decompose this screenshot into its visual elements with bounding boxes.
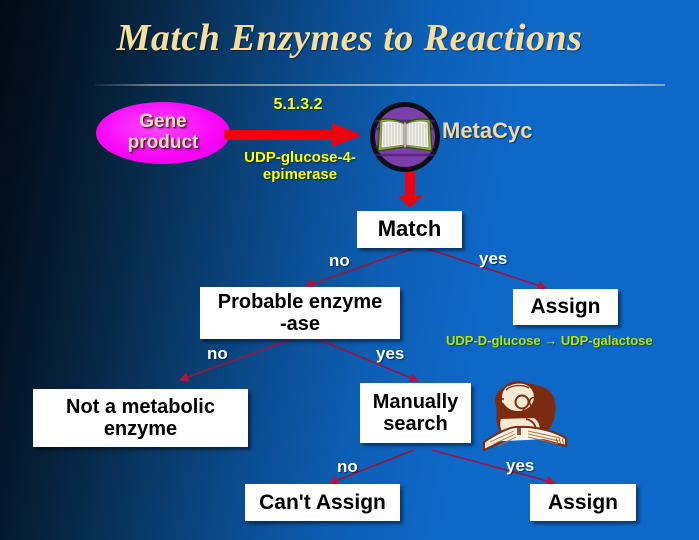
node-cant-assign[interactable]: Can't Assign	[245, 484, 400, 521]
edge-label-probable-yes: yes	[376, 344, 404, 364]
scholar-reading-book-icon	[466, 372, 576, 454]
node-probable-enzyme[interactable]: Probable enzyme -ase	[200, 287, 400, 339]
node-manually-search[interactable]: Manually search	[360, 383, 471, 443]
enzyme-name-label: UDP-glucose-4- epimerase	[205, 150, 395, 184]
node-probable-enzyme-line1: Probable enzyme	[218, 291, 383, 313]
gene-to-database-arrow-icon	[224, 122, 362, 148]
ec-number-label: 5.1.3.2	[238, 96, 358, 114]
metacyc-book-badge-icon	[369, 101, 441, 173]
node-probable-enzyme-line2: -ase	[280, 313, 320, 335]
edge-label-probable-no: no	[207, 344, 228, 364]
node-not-metabolic-line2: enzyme	[104, 418, 177, 440]
reaction-result-label: UDP-D-glucose → UDP-galactose	[446, 333, 653, 348]
database-to-match-arrow-icon	[396, 172, 424, 208]
edge-label-match-yes: yes	[479, 249, 507, 269]
node-match[interactable]: Match	[357, 211, 462, 248]
page-title: Match Enzymes to Reactions	[0, 16, 699, 60]
edge-label-search-no: no	[337, 457, 358, 477]
node-manually-search-line1: Manually	[373, 391, 459, 413]
title-divider	[95, 84, 665, 86]
edge-label-search-yes: yes	[506, 456, 534, 476]
node-assign-bottom[interactable]: Assign	[530, 484, 636, 521]
node-manually-search-line2: search	[383, 413, 448, 435]
node-not-metabolic-line1: Not a metabolic	[66, 396, 215, 418]
edge-label-match-no: no	[329, 251, 350, 271]
node-assign-top[interactable]: Assign	[513, 289, 618, 325]
gene-product-label: Gene product	[128, 112, 199, 154]
slide-canvas: Match Enzymes to Reactions Gene product …	[0, 0, 699, 540]
metacyc-label: MetaCyc	[442, 118, 532, 144]
node-not-metabolic-enzyme[interactable]: Not a metabolic enzyme	[33, 389, 248, 447]
